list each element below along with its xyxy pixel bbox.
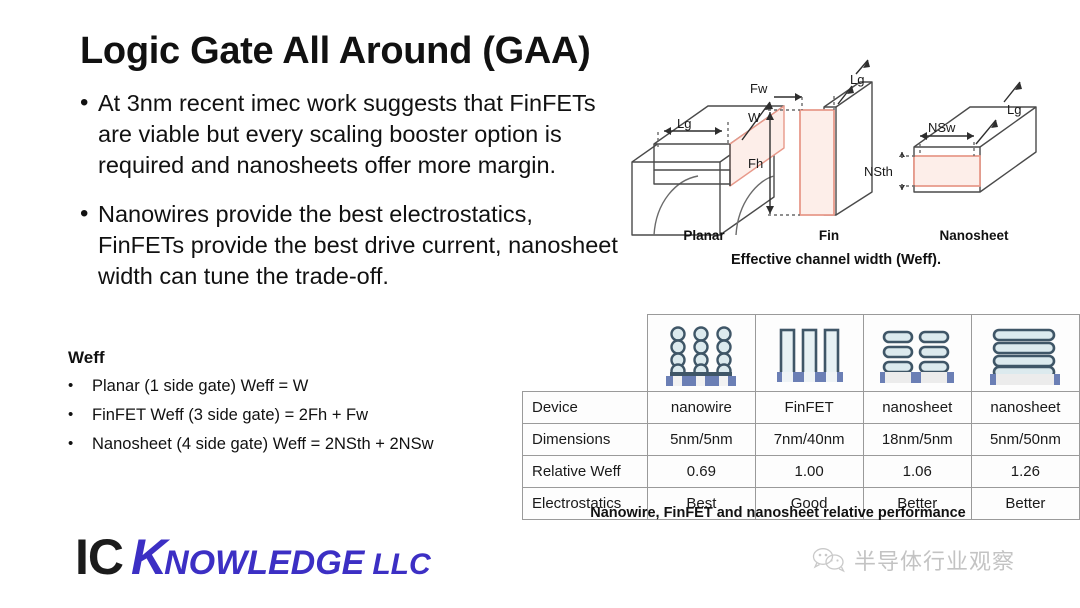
table-cell: 7nm/40nm [755,424,863,456]
table-cell: nanosheet [863,392,971,424]
table-cell: nanowire [648,392,755,424]
bullet-marker-icon: • [80,199,98,229]
bullet-text: Nanowires provide the best electrostatic… [98,199,620,292]
bullet-marker-icon: • [80,88,98,118]
nanowire-icon [648,316,754,390]
table-row: Device nanowire FinFET nanosheet nanoshe… [523,392,1080,424]
table-cell: FinFET [755,392,863,424]
table-cell: 1.06 [863,456,971,488]
table-cell: 18nm/5nm [863,424,971,456]
bullet-text: At 3nm recent imec work suggests that Fi… [98,88,620,181]
logo-ic-text: IC [75,528,123,586]
nanowire-icon-cell [648,315,755,392]
finfet-icon [756,316,863,390]
weff-heading: Weff [68,348,538,368]
table-cell: 1.00 [755,456,863,488]
table-cell: 5nm/5nm [648,424,755,456]
table-cell: 5nm/50nm [971,424,1079,456]
weff-svg: Lg W Fw Fh Lg NSw NSth Lg [624,52,1048,252]
table-row: Relative Weff 0.69 1.00 1.06 1.26 [523,456,1080,488]
bullet-list: • At 3nm recent imec work suggests that … [80,88,620,310]
label-lg-nanosheet: Lg [1007,102,1021,117]
logo-llc-text: LLC [372,548,430,582]
weff-section: Weff • Planar (1 side gate) Weff = W • F… [68,348,538,455]
list-item: • At 3nm recent imec work suggests that … [80,88,620,181]
page-title: Logic Gate All Around (GAA) [80,30,591,73]
table-cell: 1.26 [971,456,1079,488]
label-lg-fin: Lg [850,72,864,87]
device-label-fin: Fin [774,228,884,243]
device-label-nanosheet: Nanosheet [904,228,1044,243]
nanosheet-2col-icon-cell [863,315,971,392]
list-item: • Nanosheet (4 side gate) Weff = 2NSth +… [68,433,538,455]
table-row: Dimensions 5nm/5nm 7nm/40nm 18nm/5nm 5nm… [523,424,1080,456]
bullet-marker-icon: • [68,375,92,397]
list-item: • FinFET Weff (3 side gate) = 2Fh + Fw [68,404,538,426]
nanosheet-diagram [899,82,1036,192]
label-lg-planar: Lg [677,116,691,131]
device-label-planar: Planar [624,228,784,243]
label-nsw: NSw [928,120,956,135]
table-cell: nanosheet [971,392,1079,424]
row-header: Device [523,392,648,424]
weff-formula: Planar (1 side gate) Weff = W [92,375,308,397]
row-header: Relative Weff [523,456,648,488]
table-icon-row [523,315,1080,392]
performance-table: Device nanowire FinFET nanosheet nanoshe… [522,314,1080,520]
effective-channel-width-diagram: Lg W Fw Fh Lg NSw NSth Lg Planar Fin Nan… [624,52,1048,272]
watermark: 半导体行业观察 [812,544,1015,576]
list-item: • Planar (1 side gate) Weff = W [68,375,538,397]
label-w-planar: W [748,110,761,125]
nanosheet-2col-icon [864,316,971,390]
bullet-marker-icon: • [68,404,92,426]
icon-row-blank-cell [523,315,648,392]
slide-root: Logic Gate All Around (GAA) • At 3nm rec… [0,0,1080,608]
logo-k-text: K [131,528,166,586]
list-item: • Nanowires provide the best electrostat… [80,199,620,292]
watermark-text: 半导体行业观察 [854,544,1015,576]
wechat-icon [812,547,846,573]
table-cell: 0.69 [648,456,755,488]
label-nsth: NSth [864,164,893,179]
logo-knowledge-text: NOWLEDGE [164,544,364,583]
nanosheet-wide-icon [972,316,1079,390]
row-header: Dimensions [523,424,648,456]
weff-formula: FinFET Weff (3 side gate) = 2Fh + Fw [92,404,368,426]
label-fw-fin: Fw [750,81,768,96]
figure-caption: Effective channel width (Weff). [624,252,1048,268]
bullet-marker-icon: • [68,433,92,455]
finfet-icon-cell [755,315,863,392]
ic-knowledge-logo: IC K NOWLEDGE LLC [75,528,431,586]
weff-formula: Nanosheet (4 side gate) Weff = 2NSth + 2… [92,433,434,455]
label-fh-fin: Fh [748,156,763,171]
nanosheet-wide-icon-cell [971,315,1079,392]
table-caption: Nanowire, FinFET and nanosheet relative … [522,505,1034,521]
